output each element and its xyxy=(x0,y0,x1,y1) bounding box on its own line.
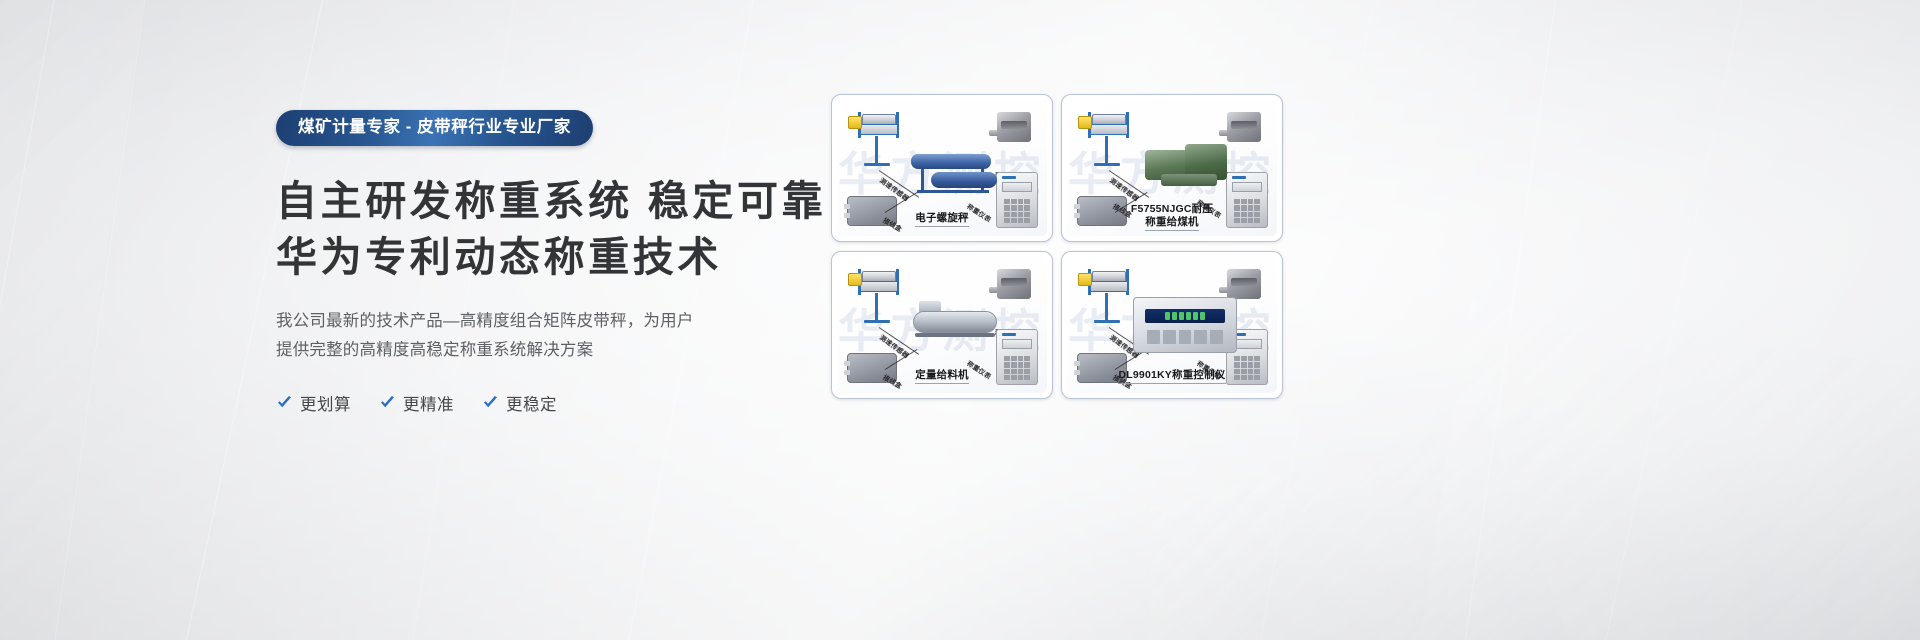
product-card-4-diagram: 华方测控 测速传感器 称重传感器 接线盒 xyxy=(1067,257,1277,393)
tagline-badge: 煤矿计量专家 - 皮带秤行业专业厂家 xyxy=(276,110,593,146)
headline-line-1: 自主研发称重系统 稳定可靠 xyxy=(276,173,916,229)
speed-sensor-icon xyxy=(848,109,906,171)
product-card-grid: 华方测控 测速传感器 称重传感器 接线盒 xyxy=(831,94,1283,399)
feature-item-2: 更精准 xyxy=(379,391,454,415)
hero-banner: 煤矿计量专家 - 皮带秤行业专业厂家 自主研发称重系统 稳定可靠 华为专利动态称… xyxy=(0,0,1920,640)
product-card-2[interactable]: 华方测控 测速传感器 称重传感器 接线盒 xyxy=(1061,94,1283,242)
machine-illustration xyxy=(903,305,1007,351)
check-icon xyxy=(276,394,293,411)
product-card-3[interactable]: 华方测控 测速传感器 称重传感器 接线盒 xyxy=(831,251,1053,399)
feature-item-3: 更稳定 xyxy=(482,391,557,415)
feature-label-3: 更稳定 xyxy=(506,391,557,415)
product-card-3-diagram: 华方测控 测速传感器 称重传感器 接线盒 xyxy=(837,257,1047,393)
speed-sensor-icon xyxy=(848,266,906,328)
machine-illustration xyxy=(907,146,1005,198)
check-icon xyxy=(379,394,396,411)
check-icon xyxy=(482,394,499,411)
product-card-4-title: DL9901KY称重控制仪 xyxy=(1067,369,1277,382)
page-title: 自主研发称重系统 稳定可靠 华为专利动态称重技术 xyxy=(276,173,916,285)
machine-illustration xyxy=(1139,140,1235,194)
machine-illustration xyxy=(1133,297,1237,353)
product-card-1[interactable]: 华方测控 测速传感器 称重传感器 接线盒 xyxy=(831,94,1053,242)
feature-item-1: 更划算 xyxy=(276,391,351,415)
headline-line-2: 华为专利动态称重技术 xyxy=(276,229,916,285)
feature-list: 更划算 更精准 更稳定 xyxy=(276,391,916,415)
speed-sensor-icon xyxy=(1078,109,1136,171)
product-card-1-diagram: 华方测控 测速传感器 称重传感器 接线盒 xyxy=(837,100,1047,236)
feature-label-1: 更划算 xyxy=(300,391,351,415)
product-card-3-title: 定量给料机 xyxy=(837,369,1047,382)
product-card-2-title: F5755NJGC耐压 称重给煤机 xyxy=(1067,203,1277,229)
feature-label-2: 更精准 xyxy=(403,391,454,415)
product-card-2-diagram: 华方测控 测速传感器 称重传感器 接线盒 xyxy=(1067,100,1277,236)
product-card-4[interactable]: 华方测控 测速传感器 称重传感器 接线盒 xyxy=(1061,251,1283,399)
product-card-1-title: 电子螺旋秤 xyxy=(837,212,1047,225)
speed-sensor-icon xyxy=(1078,266,1136,328)
hero-description: 我公司最新的技术产品—高精度组合矩阵皮带秤，为用户提供完整的高精度高稳定称重系统… xyxy=(276,307,708,365)
hero-text-column: 煤矿计量专家 - 皮带秤行业专业厂家 自主研发称重系统 稳定可靠 华为专利动态称… xyxy=(276,110,916,415)
load-cell-icon xyxy=(989,267,1037,309)
